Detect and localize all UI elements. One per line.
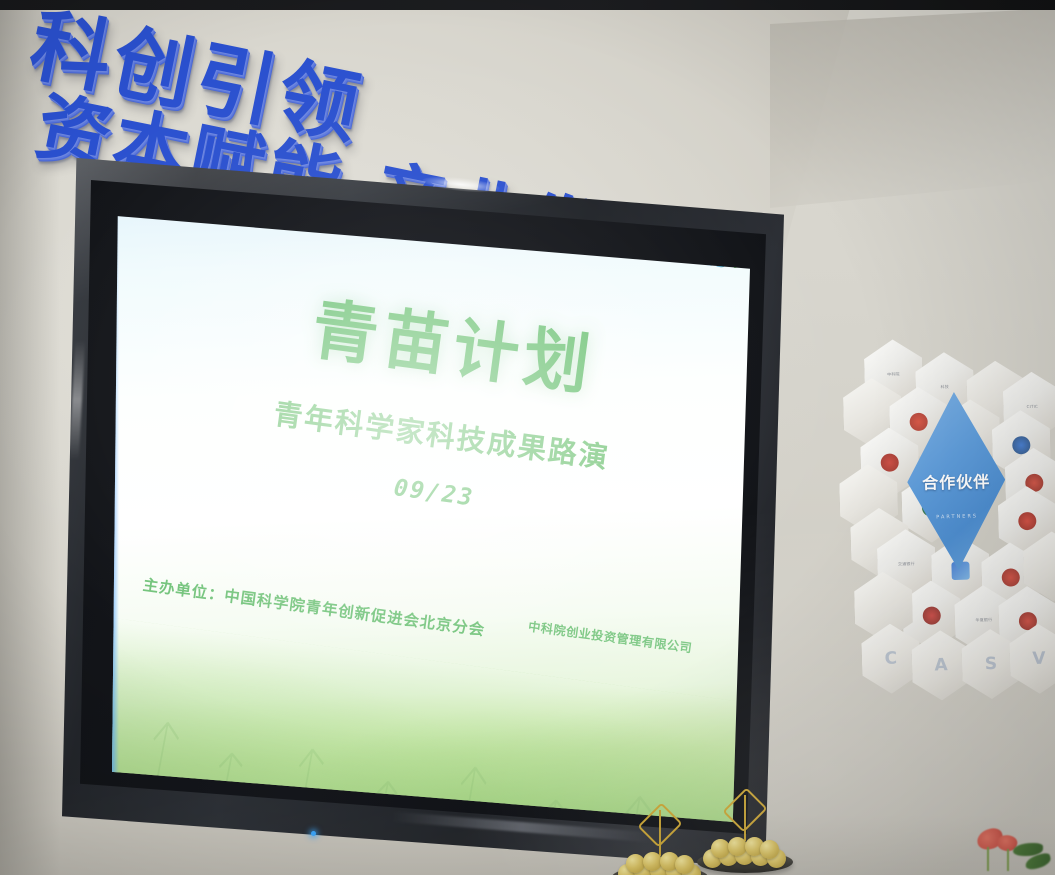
stand-rod: [659, 810, 661, 856]
hex-letter-c: C: [884, 649, 897, 669]
hex-letter-a: A: [934, 655, 948, 675]
wall-display[interactable]: CAS 青苗计划 青年科学家科技成果路演 09/23 主办单位：中国科学院青年创…: [62, 150, 784, 868]
hex-logo-label: 科技: [941, 385, 950, 390]
partner-center-label: 合作伙伴: [922, 468, 991, 494]
stand-rod: [744, 795, 746, 841]
hex-logo-mark: [923, 606, 941, 624]
room-scene: 科创引领 资本赋能 产业发展: [0, 0, 1055, 875]
hex-logo-label: CITIC: [1027, 405, 1039, 410]
anthurium-flower: [973, 817, 1051, 873]
hex-logo-mark: [1018, 512, 1036, 530]
hex-letter-v: V: [1032, 649, 1046, 669]
chocolate-stand-left: [612, 810, 708, 875]
hex-logo-mark: [909, 413, 927, 431]
slide-canvas: CAS 青苗计划 青年科学家科技成果路演 09/23 主办单位：中国科学院青年创…: [112, 210, 750, 822]
wall-left-shadow: [0, 8, 60, 875]
ceiling-slope: [770, 8, 1055, 208]
hex-logo-mark: [1002, 568, 1020, 586]
chocolate-balls: [701, 837, 789, 865]
hex-logo-label: 华夏银行: [975, 618, 992, 623]
hex-logo-mark: [1012, 436, 1030, 454]
chocolate-balls: [616, 852, 704, 875]
partner-hex-wall: 中科院 科技 CITIC 交通银行 华夏银行 C A S V: [841, 327, 1055, 693]
power-led-indicator: [311, 831, 316, 836]
partner-center-sublabel: PARTNERS: [936, 513, 978, 520]
hex-letter-s: S: [985, 654, 998, 674]
hex-logo-mark: [881, 453, 899, 471]
chocolate-stand-right: [697, 795, 793, 873]
hex-logo-label: 中科院: [887, 372, 900, 377]
hex-logo-label: 交通银行: [898, 562, 915, 567]
display-screen[interactable]: CAS 青苗计划 青年科学家科技成果路演 09/23 主办单位：中国科学院青年创…: [112, 210, 750, 822]
ceiling-band: [0, 0, 1055, 10]
